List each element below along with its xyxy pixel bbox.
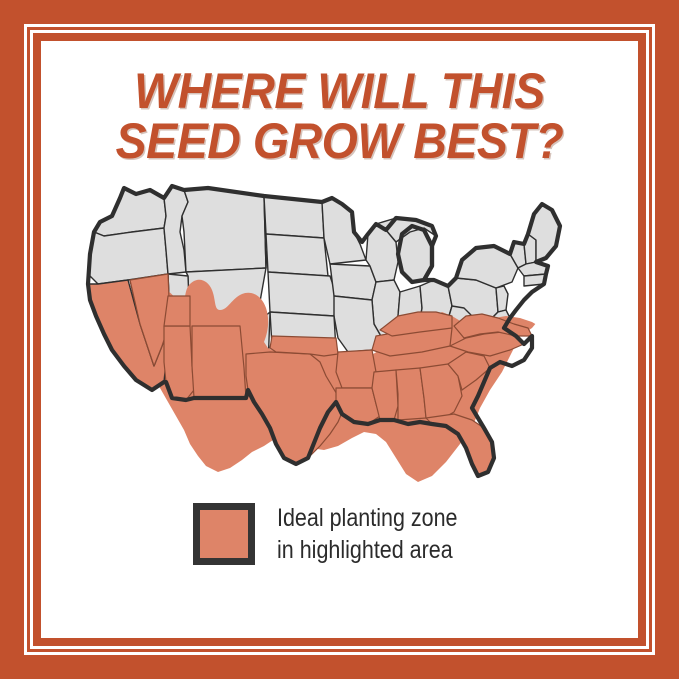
- legend-label: Ideal planting zone in highlighted area: [277, 502, 458, 566]
- legend-label-line-2: in highlighted area: [277, 534, 458, 566]
- us-map-svg: [80, 176, 600, 488]
- title-line-2: SEED GROW BEST?: [62, 117, 617, 167]
- poster: WHERE WILL THIS SEED GROW BEST?: [0, 0, 679, 679]
- us-map: [80, 176, 600, 488]
- map-legend: Ideal planting zone in highlighted area: [193, 502, 487, 566]
- page-title: WHERE WILL THIS SEED GROW BEST?: [41, 67, 638, 166]
- legend-label-line-1: Ideal planting zone: [277, 502, 458, 534]
- legend-color-swatch: [193, 503, 255, 565]
- poster-content: WHERE WILL THIS SEED GROW BEST?: [41, 41, 638, 638]
- title-line-1: WHERE WILL THIS: [62, 67, 617, 117]
